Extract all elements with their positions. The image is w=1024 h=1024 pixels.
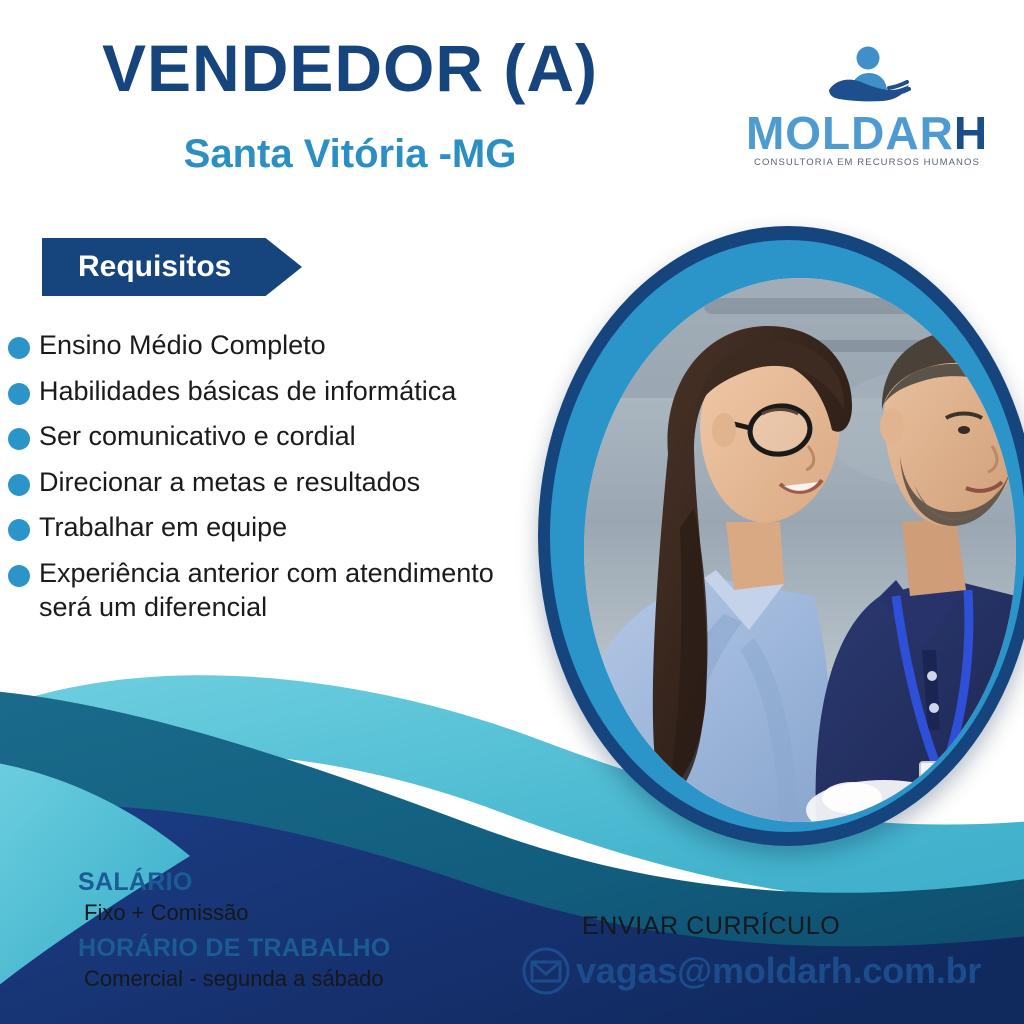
salary-label: SALÁRIO bbox=[78, 868, 508, 897]
photo-ring-inner bbox=[550, 240, 1024, 832]
logo-word-light: MOLDAR bbox=[746, 107, 954, 159]
requirement-text: Ser comunicativo e cordial bbox=[39, 419, 356, 454]
list-item: Direcionar a metas e resultados bbox=[8, 465, 548, 500]
list-item: Habilidades básicas de informática bbox=[8, 374, 548, 409]
bullet-dot-icon bbox=[8, 474, 30, 496]
application-email[interactable]: vagas@moldarh.com.br bbox=[576, 950, 981, 992]
requirement-text: Direcionar a metas e resultados bbox=[39, 465, 420, 500]
requirement-text: Habilidades básicas de informática bbox=[39, 374, 456, 409]
bullet-dot-icon bbox=[8, 337, 30, 359]
salary-value: Fixo + Comissão bbox=[84, 900, 508, 926]
logo-tagline: CONSULTORIA EM RECURSOS HUMANOS bbox=[742, 157, 992, 168]
requirement-text: Trabalhar em equipe bbox=[39, 510, 287, 545]
job-posting-poster: VENDEDOR (A) Santa Vitória -MG MOLDARH C… bbox=[0, 0, 1024, 1024]
person-in-hand-icon bbox=[821, 44, 913, 114]
apply-cta: ENVIAR CURRÍCULO vagas@moldarh.com.br bbox=[520, 912, 1020, 997]
team-photo bbox=[584, 278, 1016, 822]
bullet-dot-icon bbox=[8, 383, 30, 405]
list-item: Experiência anterior com atendimento ser… bbox=[8, 556, 548, 625]
schedule-label: HORÁRIO DE TRABALHO bbox=[78, 934, 508, 963]
company-logo: MOLDARH CONSULTORIA EM RECURSOS HUMANOS bbox=[742, 44, 992, 184]
requirements-list: Ensino Médio Completo Habilidades básica… bbox=[8, 328, 548, 636]
requirement-text: Ensino Médio Completo bbox=[39, 328, 326, 363]
logo-wordmark: MOLDARH bbox=[742, 110, 992, 156]
list-item: Ensino Médio Completo bbox=[8, 328, 548, 363]
bullet-dot-icon bbox=[8, 519, 30, 541]
requirements-banner: Requisitos bbox=[42, 238, 302, 296]
job-location: Santa Vitória -MG bbox=[0, 132, 700, 177]
cta-label: ENVIAR CURRÍCULO bbox=[582, 912, 1020, 941]
bullet-dot-icon bbox=[8, 428, 30, 450]
photo-ring-outer bbox=[538, 226, 1024, 846]
requirement-text: Experiência anterior com atendimento ser… bbox=[39, 556, 548, 625]
email-row[interactable]: vagas@moldarh.com.br bbox=[520, 945, 1020, 997]
job-conditions: SALÁRIO Fixo + Comissão HORÁRIO DE TRABA… bbox=[78, 868, 508, 1000]
list-item: Ser comunicativo e cordial bbox=[8, 419, 548, 454]
list-item: Trabalhar em equipe bbox=[8, 510, 548, 545]
bullet-dot-icon bbox=[8, 565, 30, 587]
envelope-circle-icon[interactable] bbox=[520, 945, 572, 997]
page-title: VENDEDOR (A) bbox=[0, 34, 700, 103]
schedule-value: Comercial - segunda a sábado bbox=[84, 966, 508, 992]
logo-word-dark: H bbox=[954, 107, 988, 159]
